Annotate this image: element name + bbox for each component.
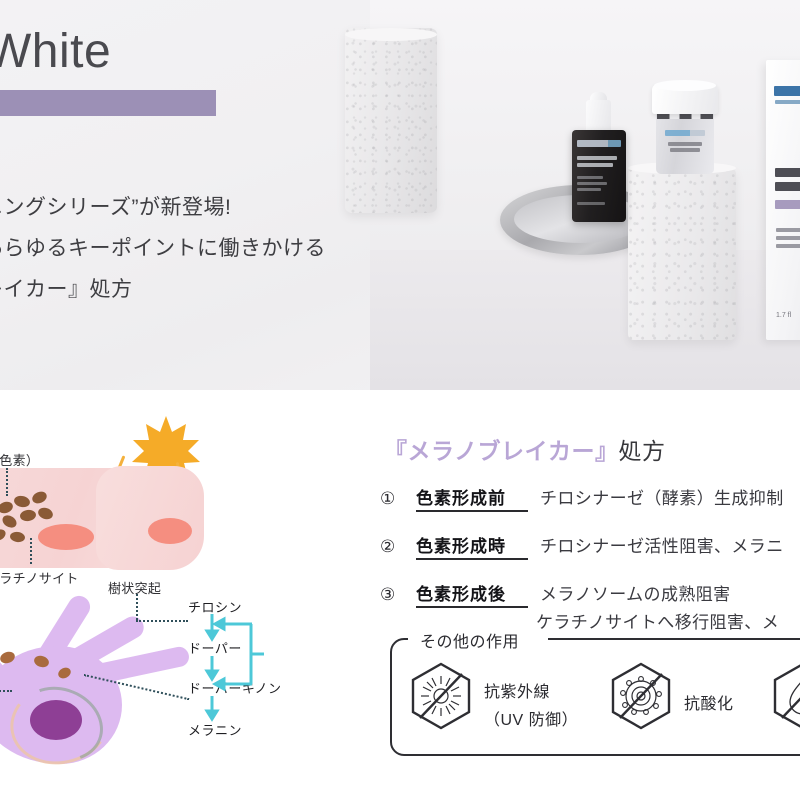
keratinocyte-leader-line <box>30 538 32 564</box>
sun-uv-hexagon-icon <box>410 662 472 730</box>
hero-copy-line-2: あらゆるキーポイントに働きかける <box>0 229 622 270</box>
panel-title-accent: 『メラノブレイカー』 <box>384 438 619 464</box>
formula-row-2-desc: チロシナーゼ活性阻害、メラニ <box>528 532 784 557</box>
melanocyte-leader-line <box>0 690 12 692</box>
other-action-uv-label-line2: （UV 防御） <box>484 706 578 730</box>
pigment-label: （色素） <box>0 450 39 469</box>
panel-title-rest: 処方 <box>619 438 666 464</box>
serum-fineprint-1 <box>577 176 603 179</box>
formula-row-2-number: ② <box>380 537 416 557</box>
melanocyte-cell <box>0 560 198 790</box>
serum-label-line-2 <box>577 163 613 167</box>
hero-copy-block: ニングシリーズ”が新登場! あらゆるキーポイントに働きかける レイカー』処方 <box>0 188 622 311</box>
carton-brand-subline <box>775 100 800 104</box>
formula-row-1-term: 色素形成前 <box>416 484 528 512</box>
carton-name-line-2 <box>775 182 800 191</box>
other-actions-label: その他の作用 <box>416 628 523 652</box>
carton-volume: 1.7 fl <box>776 312 791 319</box>
melanocyte-nucleus <box>30 700 82 740</box>
serum-dropper-cap <box>586 100 611 134</box>
jar-lid <box>652 84 718 114</box>
jar-label-line-1 <box>668 142 702 146</box>
keratinocyte-cell-b <box>96 466 204 570</box>
antioxidant-hexagon-icon <box>610 662 672 730</box>
formula-panel: 『メラノブレイカー』処方 ①色素形成前チロシナーゼ（酵素）生成抑制 ②色素形成時… <box>372 390 800 800</box>
page-title: White <box>0 24 111 79</box>
pigment-leader-line <box>6 468 8 496</box>
stone-plinth-mid <box>628 168 736 340</box>
dendrite-leader-vert <box>136 594 138 620</box>
panel-title: 『メラノブレイカー』処方 <box>384 432 666 466</box>
keratinocyte-nucleus-b <box>148 518 192 544</box>
carton-accent-rule <box>775 200 800 209</box>
carton-copy-3 <box>776 244 800 248</box>
hero-copy-line-3: レイカー』処方 <box>0 270 622 311</box>
page-root: 1.7 fl White ニングシリーズ”が新登場! あらゆるキーポイントに働き… <box>0 0 800 800</box>
formula-row-2: ②色素形成時チロシナーゼ活性阻害、メラニ <box>380 532 784 560</box>
keratinocyte-label: ケラチノサイト <box>0 568 79 587</box>
formula-row-1: ①色素形成前チロシナーゼ（酵素）生成抑制 <box>380 484 784 512</box>
day-cream-carton: 1.7 fl <box>766 60 800 340</box>
formula-row-3-desc: メラノソームの成熟阻害 <box>528 580 731 605</box>
carton-brand-mark <box>774 86 800 96</box>
jar-label-line-2 <box>670 148 700 152</box>
pathway-arrows <box>196 612 396 762</box>
formula-row-3-desc-line2: ケラチノサイトへ移行阻害、メ <box>536 608 779 633</box>
carton-copy-2 <box>776 236 800 240</box>
formula-row-1-number: ① <box>380 489 416 509</box>
hero-copy-line-1: ニングシリーズ”が新登場! <box>0 188 622 229</box>
formula-row-3-term: 色素形成後 <box>416 580 528 608</box>
formula-row-1-desc: チロシナーゼ（酵素）生成抑制 <box>528 484 784 509</box>
stone-plinth-tall <box>345 28 437 213</box>
night-cream-jar <box>652 84 718 176</box>
other-action-antioxidant-label: 抗酸化 <box>684 690 734 714</box>
mechanism-diagram: UV <box>0 390 800 800</box>
other-action-item-third <box>772 662 800 735</box>
dendrite-leader-horz <box>136 620 188 622</box>
other-action-item-antioxidant <box>610 662 672 735</box>
serum-label-line-1 <box>577 156 617 160</box>
carton-name-line-1 <box>775 168 800 177</box>
jar-band <box>657 114 713 119</box>
moisture-drop-hexagon-icon <box>772 662 800 730</box>
formula-row-3-number: ③ <box>380 585 416 605</box>
title-underline-bar <box>0 90 216 116</box>
serum-fineprint-2 <box>577 182 607 185</box>
keratinocyte-nucleus-a <box>38 524 94 550</box>
other-action-item-uv <box>410 662 472 735</box>
hero-banner: 1.7 fl White ニングシリーズ”が新登場! あらゆるキーポイントに働き… <box>0 0 800 390</box>
formula-row-2-term: 色素形成時 <box>416 532 528 560</box>
other-action-uv-label-line1: 抗紫外線 <box>484 678 550 702</box>
jar-brand-mark <box>665 130 705 136</box>
serum-brand-mark <box>577 140 621 147</box>
formula-row-3: ③色素形成後メラノソームの成熟阻害 <box>380 580 731 608</box>
carton-copy-1 <box>776 228 800 232</box>
dendrite-label: 樹状突起 <box>108 578 161 597</box>
